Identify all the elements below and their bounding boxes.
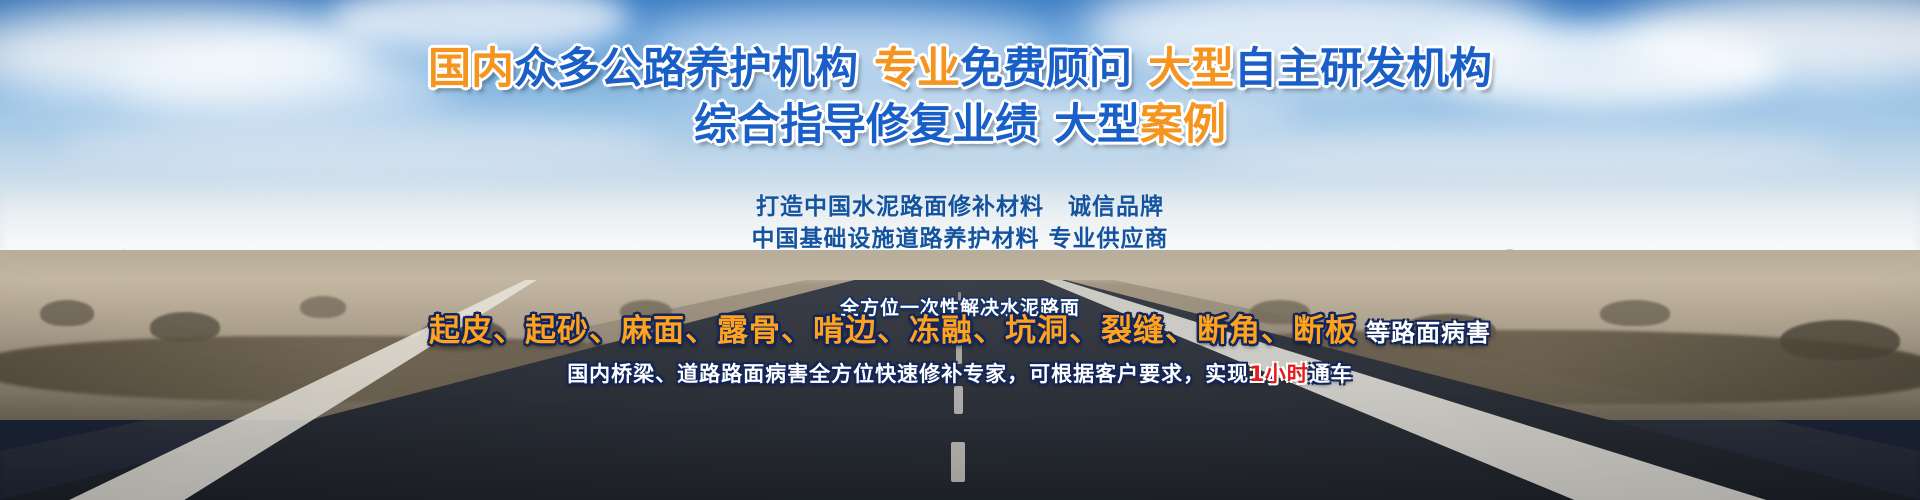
promo-banner: 国内众多公路养护机构专业免费顾问大型自主研发机构 综合指导修复业绩大型案例 打造… — [0, 0, 1920, 500]
headline-segment-rnd: 自主研发机构 — [1234, 44, 1492, 94]
bottom-closing: 国内桥梁、道路路面病害全方位快速修补专家，可根据客户要求，实现1小时通车 — [0, 358, 1920, 388]
subtitle-line-2: 中国基础设施道路养护材料 专业供应商 — [0, 224, 1920, 255]
headline-segment-guidance: 综合指导修复业绩 — [694, 100, 1038, 150]
closing-post: 通车 — [1309, 362, 1353, 386]
headline-segment-free-consult: 免费顾问 — [960, 44, 1132, 94]
banner-content: 国内众多公路养护机构专业免费顾问大型自主研发机构 综合指导修复业绩大型案例 打造… — [0, 0, 1920, 500]
defect-list-text: 起皮、起砂、麻面、露骨、啃边、冻融、坑洞、裂缝、断角、断板 — [429, 313, 1357, 349]
headline-line-2: 综合指导修复业绩大型案例 — [0, 104, 1920, 147]
headline-segment-large: 大型 — [1054, 100, 1140, 150]
headline-segment-cases: 案例 — [1140, 100, 1226, 150]
closing-highlight: 1小时 — [1249, 362, 1309, 386]
headline-line-1: 国内众多公路养护机构专业免费顾问大型自主研发机构 — [0, 48, 1920, 91]
subtitle-line-1: 打造中国水泥路面修补材料 诚信品牌 — [0, 192, 1920, 223]
headline-segment-agencies: 众多公路养护机构 — [514, 44, 858, 94]
headline-segment-large-scale: 大型 — [1148, 44, 1234, 94]
closing-pre: 国内桥梁、道路路面病害全方位快速修补专家，可根据客户要求，实现 — [567, 362, 1249, 386]
headline-segment-domestic: 国内 — [428, 44, 514, 94]
bottom-defect-list: 起皮、起砂、麻面、露骨、啃边、冻融、坑洞、裂缝、断角、断板等路面病害 — [0, 316, 1920, 347]
headline-segment-professional: 专业 — [874, 44, 960, 94]
defect-list-suffix: 等路面病害 — [1366, 319, 1491, 347]
